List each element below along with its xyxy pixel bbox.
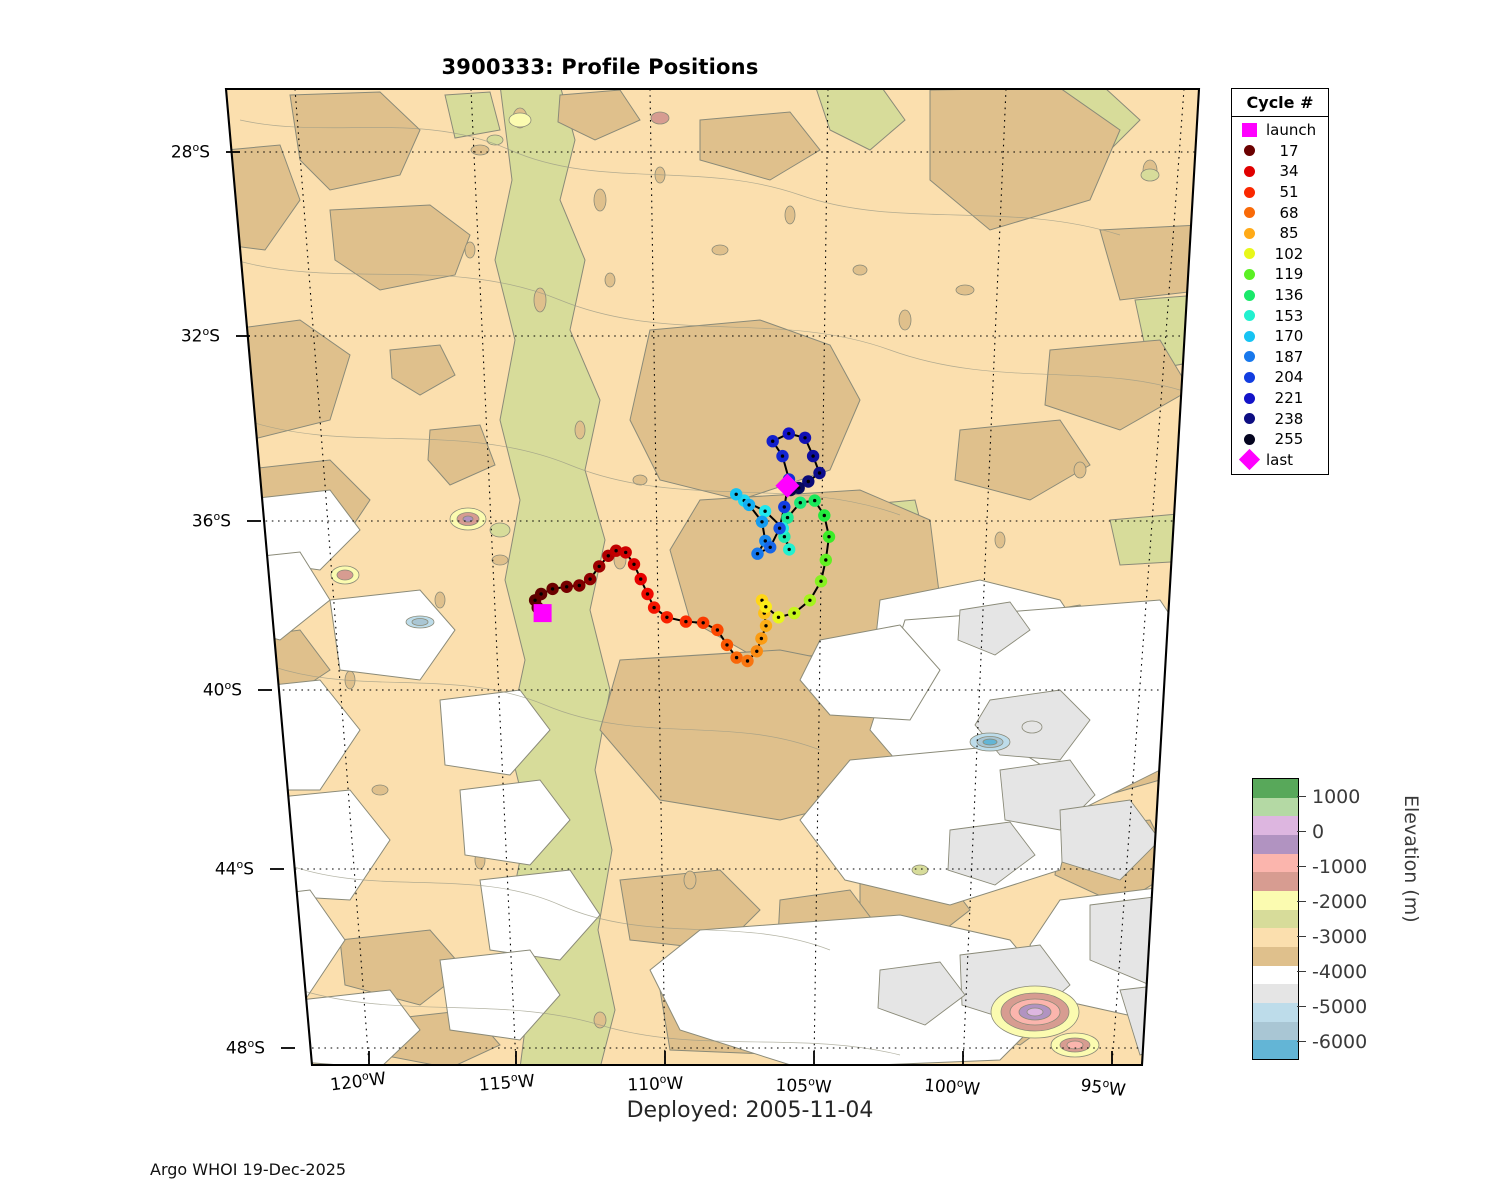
- lon-label-115: 115oW: [478, 1070, 536, 1096]
- cycle-dot-icon: [1244, 145, 1255, 156]
- colorbar-tick-label: -1000: [1306, 856, 1367, 878]
- lat-label-36: 36oS: [141, 510, 231, 532]
- legend-entry-label: 34: [1262, 162, 1316, 180]
- deployed-caption: Deployed: 2005-11-04: [430, 1098, 1070, 1123]
- profile-point-center: [813, 499, 816, 502]
- legend-entry-label: 187: [1262, 348, 1316, 366]
- launch-square[interactable]: [534, 604, 552, 622]
- lat-label-28: 28oS: [120, 141, 210, 163]
- legend-row-cycle-17[interactable]: 17: [1232, 141, 1328, 162]
- legend-row-last[interactable]: last: [1232, 450, 1328, 471]
- profile-point-center: [632, 563, 635, 566]
- colorbar-band: [1253, 854, 1298, 873]
- colorbar-band: [1253, 835, 1298, 854]
- colorbar-band: [1253, 798, 1298, 817]
- profile-point-center: [646, 592, 649, 595]
- profile-point-center: [778, 527, 781, 530]
- colorbar-tick-label: -2000: [1306, 891, 1367, 913]
- cycle-dot-icon: [1244, 413, 1255, 424]
- colorbar-gradient: [1252, 778, 1299, 1060]
- cycle-dot-icon: [1244, 269, 1255, 280]
- colorbar-tick-label: 1000: [1306, 786, 1360, 808]
- legend-entry-label: 136: [1262, 286, 1316, 304]
- cycle-dot-icon: [1244, 310, 1255, 321]
- cycle-dot-icon: [1244, 434, 1255, 445]
- cycle-dot-icon: [1244, 393, 1255, 404]
- profile-point-center: [764, 624, 767, 627]
- colorbar-band: [1253, 966, 1298, 985]
- profile-point-center: [777, 616, 780, 619]
- colorbar-tick-label: -4000: [1306, 961, 1367, 983]
- legend-row-cycle-51[interactable]: 51: [1232, 182, 1328, 203]
- profile-point-center: [808, 599, 811, 602]
- legend-row-cycle-68[interactable]: 68: [1232, 202, 1328, 223]
- profile-point-center: [787, 432, 790, 435]
- legend-entry-label: 17: [1262, 142, 1316, 160]
- profile-point-center: [539, 592, 542, 595]
- profile-point-center: [588, 577, 591, 580]
- profile-point-center: [764, 605, 767, 608]
- colorbar-tick: -4000: [1297, 961, 1367, 983]
- colorbar-band: [1253, 1003, 1298, 1022]
- lat-label-32: 32oS: [130, 325, 220, 347]
- profile-point-center: [756, 552, 759, 555]
- legend-body[interactable]: launch1734516885102119136153170187204221…: [1232, 117, 1328, 474]
- legend-row-cycle-119[interactable]: 119: [1232, 264, 1328, 285]
- legend-entry-label: 153: [1262, 307, 1316, 325]
- profile-point-center: [827, 535, 830, 538]
- cycle-dot-icon: [1244, 228, 1255, 239]
- profile-point-center: [769, 546, 772, 549]
- legend-entry-label: 221: [1262, 389, 1316, 407]
- profile-point-center: [811, 454, 814, 457]
- profile-point-center: [747, 503, 750, 506]
- cycle-legend[interactable]: Cycle # launch17345168851021191361531701…: [1231, 88, 1329, 475]
- legend-row-cycle-187[interactable]: 187: [1232, 347, 1328, 368]
- legend-entry-label: 68: [1262, 204, 1316, 222]
- colorbar-band: [1253, 910, 1298, 929]
- cycle-dot-icon: [1244, 248, 1255, 259]
- colorbar-band: [1253, 779, 1298, 798]
- legend-entry-label: 119: [1262, 265, 1316, 283]
- profile-point-center: [807, 480, 810, 483]
- cycle-dot-icon: [1244, 166, 1255, 177]
- colorbar-band: [1253, 816, 1298, 835]
- legend-row-cycle-255[interactable]: 255: [1232, 429, 1328, 450]
- legend-entry-label: launch: [1262, 121, 1316, 139]
- legend-row-cycle-204[interactable]: 204: [1232, 367, 1328, 388]
- profile-point-center: [598, 565, 601, 568]
- colorbar-tick: -3000: [1297, 926, 1367, 948]
- profile-point-center: [803, 436, 806, 439]
- map-panel: 28oS 32oS 36oS 40oS 44oS 48oS 120oW 115o…: [0, 0, 1260, 1100]
- cycle-dot-icon: [1244, 187, 1255, 198]
- colorbar-tick: 1000: [1297, 786, 1360, 808]
- colorbar-band: [1253, 984, 1298, 1003]
- legend-entry-label: 170: [1262, 327, 1316, 345]
- colorbar-tick-label: -5000: [1306, 996, 1367, 1018]
- colorbar-tick: -2000: [1297, 891, 1367, 913]
- lon-label-105: 105oW: [775, 1074, 832, 1098]
- profile-point-center: [781, 454, 784, 457]
- profile-point-center: [702, 621, 705, 624]
- cycle-dot-icon: [1244, 351, 1255, 362]
- cycle-dot-icon: [1244, 372, 1255, 383]
- lat-label-44: 44oS: [164, 858, 254, 880]
- legend-row-cycle-85[interactable]: 85: [1232, 223, 1328, 244]
- profile-point-center: [818, 471, 821, 474]
- launch-marker[interactable]: [534, 604, 552, 622]
- profile-point-center: [716, 628, 719, 631]
- colorbar-ticks: 10000-1000-2000-3000-4000-5000-6000: [1297, 778, 1407, 1058]
- legend-entry-label: last: [1262, 451, 1293, 469]
- colorbar-band: [1253, 891, 1298, 910]
- cycle-dot-icon: [1244, 331, 1255, 342]
- profile-point-center: [735, 656, 738, 659]
- colorbar-band: [1253, 872, 1298, 891]
- credit-footer: Argo WHOI 19-Dec-2025: [150, 1160, 346, 1179]
- colorbar-tick: -5000: [1297, 996, 1367, 1018]
- colorbar-tick-label: 0: [1306, 821, 1324, 843]
- profile-point-center: [755, 650, 758, 653]
- profile-point-center: [819, 580, 822, 583]
- lon-label-100: 100oW: [923, 1074, 981, 1100]
- last-swatch-icon: [1238, 449, 1259, 470]
- profile-point-center: [783, 505, 786, 508]
- profile-point-center: [746, 659, 749, 662]
- profile-point-center: [788, 548, 791, 551]
- colorbar-band: [1253, 1022, 1298, 1041]
- profile-point-center: [533, 599, 536, 602]
- profile-point-center: [614, 549, 617, 552]
- profile-point-center: [764, 539, 767, 542]
- legend-row-cycle-238[interactable]: 238: [1232, 408, 1328, 429]
- profile-point-center: [786, 516, 789, 519]
- legend-row-cycle-153[interactable]: 153: [1232, 305, 1328, 326]
- colorbar-tick: -1000: [1297, 856, 1367, 878]
- profile-point-center: [783, 535, 786, 538]
- colorbar-tick: 0: [1297, 821, 1324, 843]
- lat-label-48: 48oS: [175, 1037, 265, 1059]
- legend-row-cycle-136[interactable]: 136: [1232, 285, 1328, 306]
- legend-title: Cycle #: [1232, 89, 1328, 117]
- legend-entry-label: 204: [1262, 368, 1316, 386]
- profile-point-center: [725, 643, 728, 646]
- colorbar-tick-label: -6000: [1306, 1031, 1367, 1053]
- profile-point-center: [763, 510, 766, 513]
- profile-point-center: [578, 584, 581, 587]
- legend-row-cycle-170[interactable]: 170: [1232, 326, 1328, 347]
- profile-point-center: [652, 606, 655, 609]
- profile-point-center: [639, 577, 642, 580]
- lat-label-40: 40oS: [152, 679, 242, 701]
- colorbar-tick-label: -3000: [1306, 926, 1367, 948]
- map-canvas[interactable]: [0, 0, 1260, 1100]
- profile-point-center: [565, 585, 568, 588]
- profile-point-center: [735, 493, 738, 496]
- legend-row-cycle-221[interactable]: 221: [1232, 388, 1328, 409]
- profile-point-center: [823, 514, 826, 517]
- launch-swatch-icon: [1242, 123, 1257, 137]
- cycle-dot-icon: [1244, 207, 1255, 218]
- profile-point-center: [760, 520, 763, 523]
- legend-row-launch[interactable]: launch: [1232, 120, 1328, 141]
- colorbar[interactable]: 10000-1000-2000-3000-4000-5000-6000: [1252, 778, 1299, 1060]
- profile-point-center: [760, 637, 763, 640]
- profile-point-center: [665, 616, 668, 619]
- lon-label-110: 110oW: [627, 1072, 684, 1096]
- profile-point-center: [771, 440, 774, 443]
- profile-point-center: [684, 620, 687, 623]
- cycle-dot-icon: [1244, 290, 1255, 301]
- legend-row-cycle-102[interactable]: 102: [1232, 244, 1328, 265]
- profile-point-center: [624, 551, 627, 554]
- profile-point-center: [551, 587, 554, 590]
- profile-point-center: [607, 554, 610, 557]
- legend-entry-label: 255: [1262, 430, 1316, 448]
- profile-point-center: [824, 558, 827, 561]
- profile-point-center: [793, 611, 796, 614]
- legend-row-cycle-34[interactable]: 34: [1232, 161, 1328, 182]
- colorbar-band: [1253, 928, 1298, 947]
- colorbar-band: [1253, 1040, 1298, 1059]
- legend-entry-label: 238: [1262, 410, 1316, 428]
- colorbar-tick: -6000: [1297, 1031, 1367, 1053]
- profile-point-center: [799, 501, 802, 504]
- colorbar-band: [1253, 947, 1298, 966]
- legend-entry-label: 102: [1262, 245, 1316, 263]
- colorbar-title: Elevation (m): [1400, 795, 1422, 923]
- legend-entry-label: 51: [1262, 183, 1316, 201]
- legend-entry-label: 85: [1262, 224, 1316, 242]
